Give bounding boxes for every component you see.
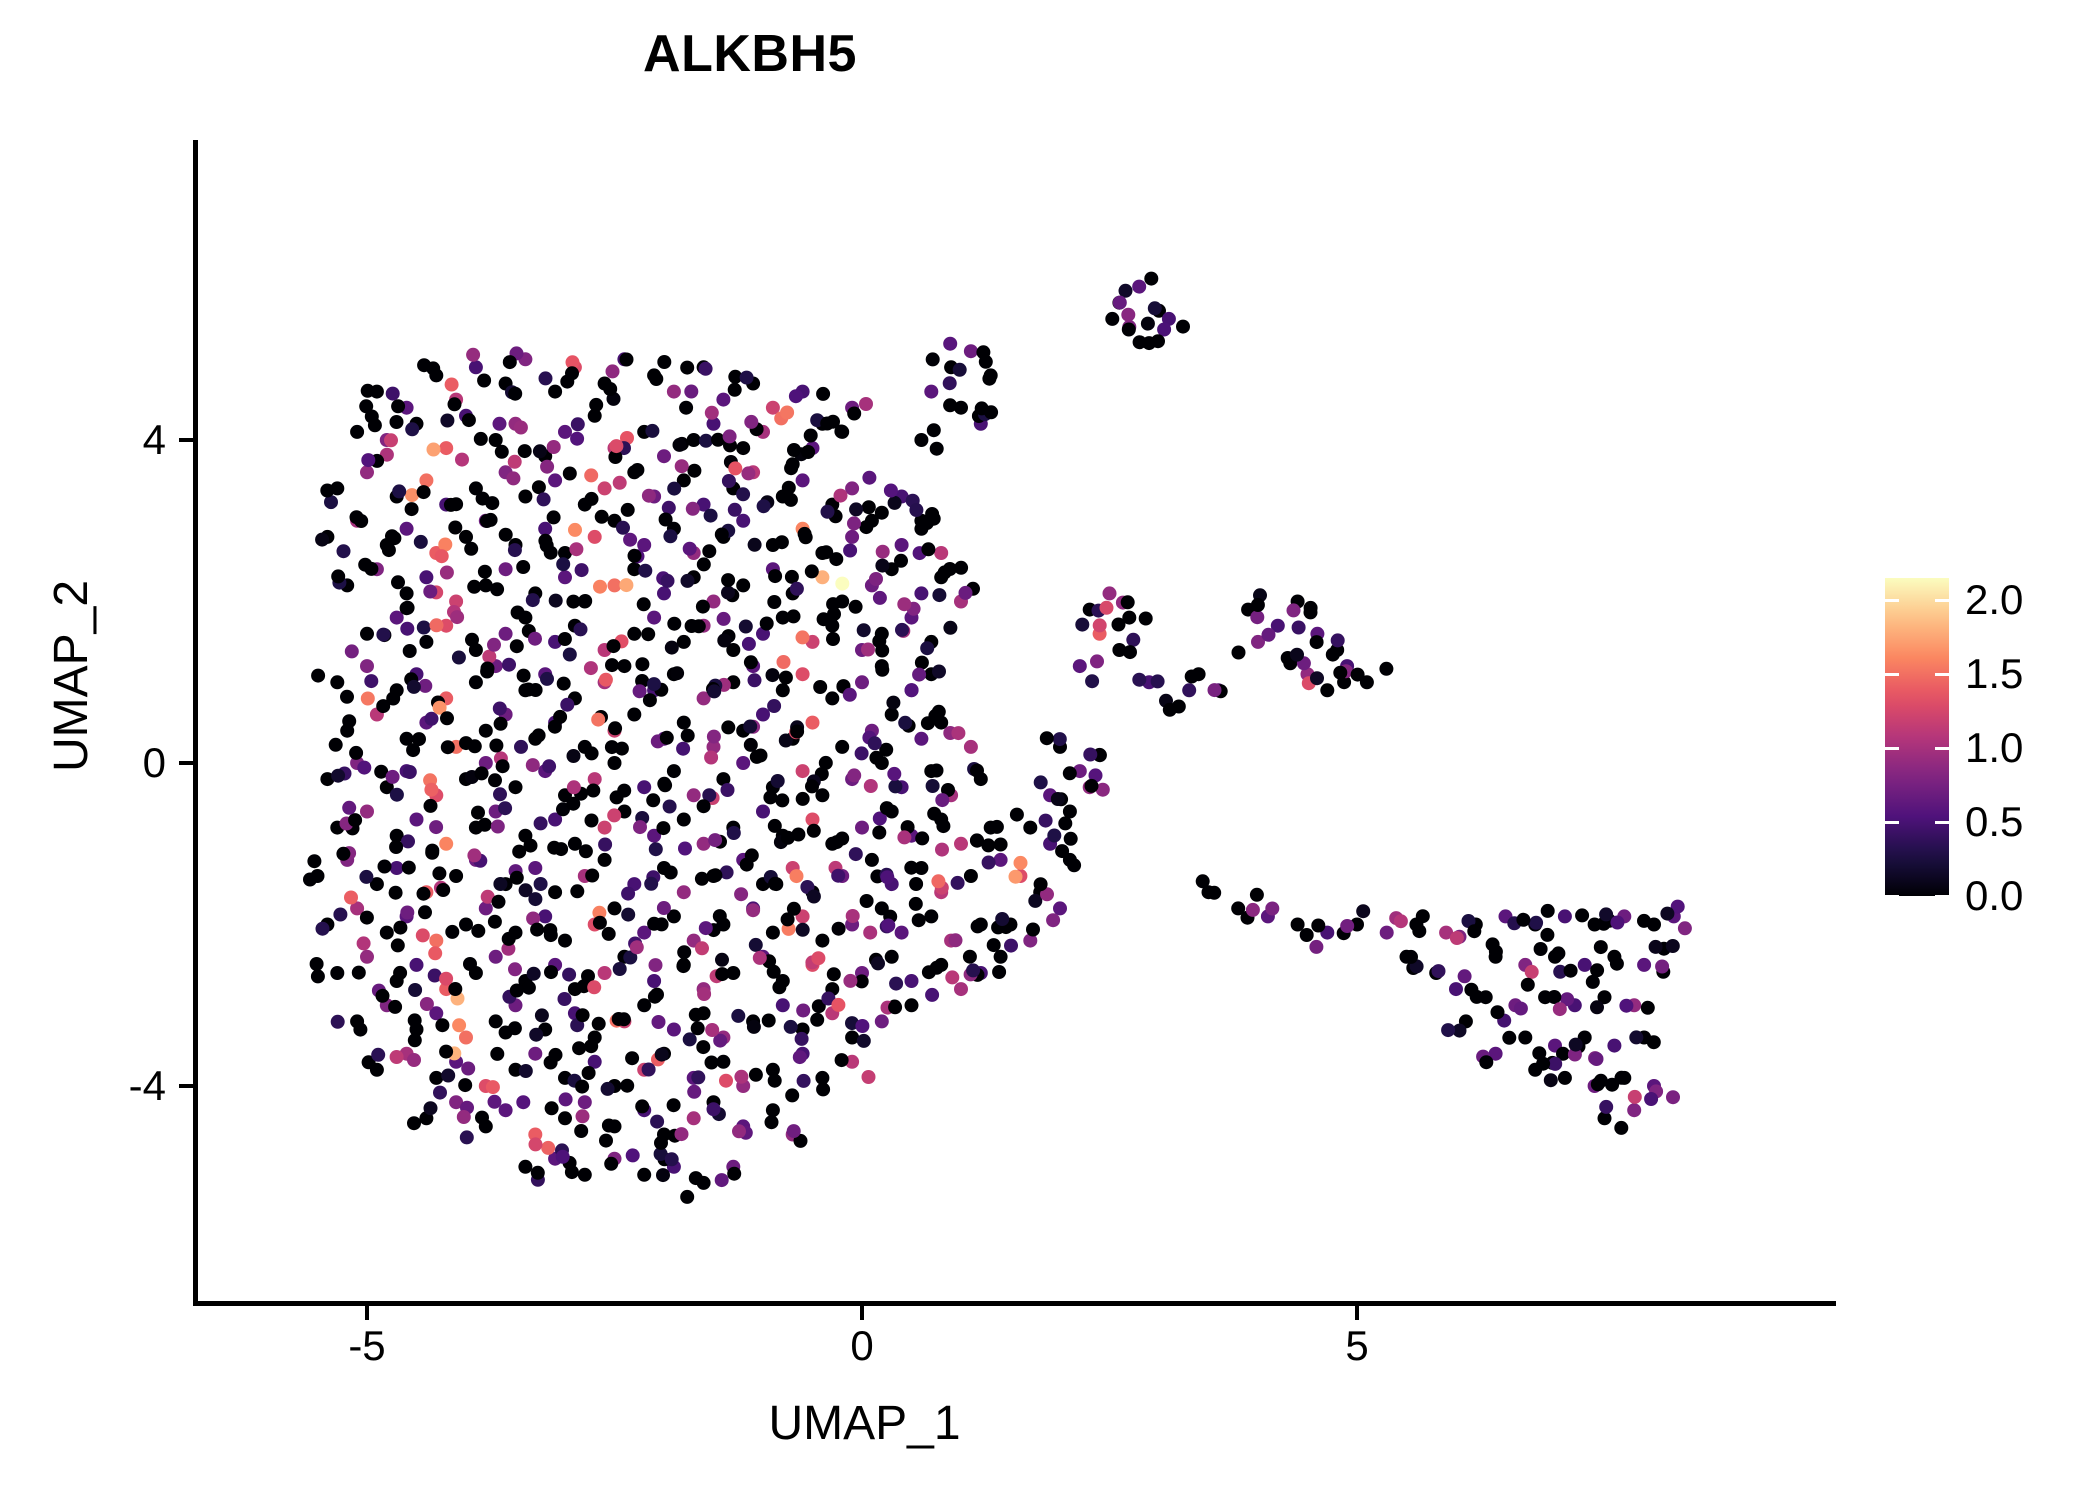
scatter-point <box>767 699 781 713</box>
scatter-point <box>676 742 690 756</box>
scatter-point <box>875 663 889 677</box>
scatter-point <box>717 634 731 648</box>
scatter-point <box>760 617 774 631</box>
scatter-point <box>380 926 394 940</box>
scatter-point <box>493 877 507 891</box>
scatter-point <box>586 784 600 798</box>
scatter-point <box>930 442 944 456</box>
scatter-point <box>835 577 849 591</box>
scatter-point <box>420 997 434 1011</box>
scatter-point <box>667 617 681 631</box>
scatter-point <box>1666 1090 1680 1104</box>
scatter-point <box>391 399 405 413</box>
scatter-point <box>1590 1000 1604 1014</box>
scatter-point <box>598 838 612 852</box>
scatter-point <box>662 501 676 515</box>
scatter-point <box>540 460 554 474</box>
scatter-point <box>734 887 748 901</box>
scatter-point <box>529 1137 543 1151</box>
scatter-point <box>516 560 530 574</box>
scatter-point <box>371 1048 385 1062</box>
scatter-point <box>589 398 603 412</box>
scatter-point <box>855 675 869 689</box>
scatter-point <box>768 569 782 583</box>
scatter-point <box>716 393 730 407</box>
scatter-point <box>1085 674 1099 688</box>
scatter-point <box>847 516 861 530</box>
scatter-point <box>921 542 935 556</box>
scatter-point <box>510 871 524 885</box>
x-tick-mark <box>860 1306 864 1320</box>
scatter-point <box>1514 1002 1528 1016</box>
scatter-point <box>1004 939 1018 953</box>
scatter-point <box>832 922 846 936</box>
scatter-point <box>360 911 374 925</box>
scatter-point <box>657 449 671 463</box>
scatter-point <box>1547 990 1561 1004</box>
scatter-point <box>357 936 371 950</box>
scatter-point <box>630 463 644 477</box>
scatter-point <box>810 1013 824 1027</box>
scatter-point <box>681 574 695 588</box>
scatter-point <box>459 918 473 932</box>
scatter-point <box>888 779 902 793</box>
scatter-point <box>576 1109 590 1123</box>
scatter-point <box>425 846 439 860</box>
scatter-point <box>835 1053 849 1067</box>
scatter-point <box>352 966 366 980</box>
scatter-point <box>813 680 827 694</box>
scatter-point <box>849 600 863 614</box>
scatter-point <box>557 677 571 691</box>
scatter-point <box>478 818 492 832</box>
scatter-point <box>643 693 657 707</box>
scatter-point <box>895 623 909 637</box>
scatter-point <box>493 417 507 431</box>
scatter-point <box>664 866 678 880</box>
colorbar-tick-label: 0.0 <box>1965 875 2023 917</box>
scatter-point <box>570 884 584 898</box>
scatter-point <box>1063 766 1077 780</box>
scatter-point <box>402 861 416 875</box>
scatter-point <box>467 848 481 862</box>
scatter-point <box>465 633 479 647</box>
scatter-point <box>1311 919 1325 933</box>
scatter-point <box>782 481 796 495</box>
scatter-point <box>410 813 424 827</box>
scatter-point <box>499 1103 513 1117</box>
scatter-point <box>605 658 619 672</box>
scatter-point <box>522 981 536 995</box>
scatter-point <box>416 928 430 942</box>
scatter-point <box>835 832 849 846</box>
scatter-point <box>567 780 581 794</box>
scatter-point <box>408 983 422 997</box>
scatter-point <box>602 927 616 941</box>
scatter-point <box>517 669 531 683</box>
scatter-point <box>516 1095 530 1109</box>
scatter-point <box>474 432 488 446</box>
scatter-point <box>914 586 928 600</box>
scatter-point <box>587 980 601 994</box>
scatter-point <box>876 545 890 559</box>
scatter-point <box>558 934 572 948</box>
scatter-point <box>528 1047 542 1061</box>
scatter-point <box>495 445 509 459</box>
scatter-point <box>585 492 599 506</box>
scatter-point <box>898 716 912 730</box>
scatter-point <box>595 510 609 524</box>
scatter-point <box>767 965 781 979</box>
scatter-point <box>361 384 375 398</box>
scatter-point <box>855 746 869 760</box>
scatter-point <box>943 376 957 390</box>
scatter-point <box>1112 618 1126 632</box>
scatter-point <box>389 886 403 900</box>
scatter-point <box>315 533 329 547</box>
scatter-point <box>401 834 415 848</box>
scatter-point <box>715 953 729 967</box>
scatter-point <box>1105 312 1119 326</box>
scatter-point <box>348 813 362 827</box>
scatter-point <box>728 383 742 397</box>
scatter-point <box>439 1045 453 1059</box>
scatter-point <box>502 658 516 672</box>
scatter-point <box>1326 648 1340 662</box>
scatter-point <box>746 903 760 917</box>
scatter-point <box>1590 1052 1604 1066</box>
scatter-point <box>766 1103 780 1117</box>
scatter-point <box>953 363 967 377</box>
scatter-point <box>528 861 542 875</box>
scatter-point <box>1310 635 1324 649</box>
scatter-point <box>704 509 718 523</box>
scatter-point <box>613 476 627 490</box>
scatter-point <box>784 493 798 507</box>
scatter-point <box>1331 633 1345 647</box>
scatter-point <box>559 1092 573 1106</box>
scatter-point <box>1660 907 1674 921</box>
scatter-point <box>582 1066 596 1080</box>
scatter-point <box>578 1095 592 1109</box>
scatter-point <box>435 549 449 563</box>
scatter-point <box>665 641 679 655</box>
scatter-point <box>650 1115 664 1129</box>
scatter-point <box>489 433 503 447</box>
scatter-point <box>747 1020 761 1034</box>
scatter-point <box>540 672 554 686</box>
scatter-point <box>702 544 716 558</box>
x-tick-label: 0 <box>792 1325 932 1367</box>
scatter-point <box>796 764 810 778</box>
scatter-point <box>981 838 995 852</box>
scatter-point <box>511 606 525 620</box>
scatter-point <box>909 503 923 517</box>
scatter-point <box>691 1070 705 1084</box>
scatter-point <box>1010 808 1024 822</box>
scatter-point <box>574 1124 588 1138</box>
scatter-point <box>403 644 417 658</box>
scatter-point <box>787 609 801 623</box>
scatter-point <box>796 792 810 806</box>
scatter-point <box>834 489 848 503</box>
scatter-point <box>1637 958 1651 972</box>
scatter-point <box>642 489 656 503</box>
scatter-point <box>650 988 664 1002</box>
scatter-point <box>862 500 876 514</box>
scatter-point <box>1246 903 1260 917</box>
scatter-point <box>609 439 623 453</box>
scatter-point <box>542 759 556 773</box>
scatter-point <box>847 407 861 421</box>
scatter-point <box>744 738 758 752</box>
scatter-point <box>364 674 378 688</box>
scatter-point <box>805 779 819 793</box>
scatter-point <box>414 535 428 549</box>
scatter-point <box>909 897 923 911</box>
scatter-point <box>647 611 661 625</box>
scatter-point <box>407 680 421 694</box>
scatter-point <box>704 751 718 765</box>
scatter-point <box>677 813 691 827</box>
scatter-point <box>728 503 742 517</box>
scatter-point <box>766 668 780 682</box>
scatter-point <box>518 490 532 504</box>
scatter-point <box>419 635 433 649</box>
scatter-point <box>1176 320 1190 334</box>
scatter-point <box>488 915 502 929</box>
scatter-point <box>469 675 483 689</box>
scatter-point <box>954 837 968 851</box>
colorbar-tick-label: 2.0 <box>1965 579 2023 621</box>
scatter-point <box>796 1004 810 1018</box>
scatter-layer <box>196 140 1836 1303</box>
scatter-point <box>1450 931 1464 945</box>
scatter-point <box>621 503 635 517</box>
scatter-point <box>400 906 414 920</box>
scatter-point <box>673 438 687 452</box>
scatter-point <box>1458 969 1472 983</box>
scatter-point <box>713 909 727 923</box>
scatter-point <box>984 405 998 419</box>
scatter-point <box>680 361 694 375</box>
scatter-point <box>1196 874 1210 888</box>
scatter-point <box>467 580 481 594</box>
scatter-point <box>608 721 622 735</box>
scatter-point <box>538 522 552 536</box>
scatter-point <box>951 726 965 740</box>
scatter-point <box>1649 940 1663 954</box>
scatter-point <box>748 538 762 552</box>
scatter-point <box>658 778 672 792</box>
scatter-point <box>619 578 633 592</box>
scatter-point <box>796 667 810 681</box>
scatter-point <box>509 780 523 794</box>
scatter-point <box>1575 908 1589 922</box>
scatter-point <box>393 966 407 980</box>
scatter-point <box>790 582 804 596</box>
scatter-point <box>528 632 542 646</box>
scatter-point <box>743 720 757 734</box>
scatter-point <box>448 521 462 535</box>
scatter-point <box>311 969 325 983</box>
scatter-point <box>721 783 735 797</box>
scatter-point <box>584 468 598 482</box>
scatter-point <box>865 853 879 867</box>
scatter-point <box>439 837 453 851</box>
scatter-point <box>620 1079 634 1093</box>
scatter-point <box>1479 1055 1493 1069</box>
scatter-point <box>1432 964 1446 978</box>
scatter-point <box>635 657 649 671</box>
scatter-point <box>630 940 644 954</box>
scatter-point <box>567 749 581 763</box>
scatter-point <box>429 934 443 948</box>
scatter-point <box>1394 914 1408 928</box>
scatter-point <box>869 751 883 765</box>
scatter-point <box>756 708 770 722</box>
scatter-point <box>656 1168 670 1182</box>
scatter-point <box>606 364 620 378</box>
scatter-point <box>390 861 404 875</box>
scatter-point <box>926 352 940 366</box>
scatter-point <box>745 848 759 862</box>
scatter-point <box>932 705 946 719</box>
scatter-point <box>695 941 709 955</box>
scatter-point <box>1141 317 1155 331</box>
scatter-point <box>945 970 959 984</box>
scatter-point <box>1629 1030 1643 1044</box>
scatter-point <box>699 362 713 376</box>
scatter-point <box>727 826 741 840</box>
scatter-point <box>1063 805 1077 819</box>
scatter-point <box>707 1102 721 1116</box>
scatter-point <box>914 433 928 447</box>
scatter-point <box>641 627 655 641</box>
scatter-point <box>1309 940 1323 954</box>
scatter-point <box>429 820 443 834</box>
scatter-point <box>492 895 506 909</box>
scatter-point <box>384 433 398 447</box>
scatter-point <box>1449 982 1463 996</box>
scatter-point <box>628 549 642 563</box>
scatter-point <box>548 385 562 399</box>
scatter-point <box>410 958 424 972</box>
scatter-point <box>784 1020 798 1034</box>
scatter-point <box>365 410 379 424</box>
scatter-point <box>544 928 558 942</box>
scatter-point <box>1051 792 1065 806</box>
scatter-point <box>331 1015 345 1029</box>
scatter-point <box>429 1071 443 1085</box>
scatter-point <box>357 761 371 775</box>
scatter-point <box>846 909 860 923</box>
scatter-point <box>736 578 750 592</box>
scatter-point <box>462 413 476 427</box>
scatter-point <box>1310 671 1324 685</box>
scatter-point <box>620 353 634 367</box>
scatter-point <box>1139 612 1153 626</box>
scatter-point <box>687 1085 701 1099</box>
scatter-point <box>656 821 670 835</box>
scatter-point <box>661 574 675 588</box>
scatter-point <box>861 643 875 657</box>
scatter-point <box>775 535 789 549</box>
scatter-point <box>843 974 857 988</box>
scatter-point <box>493 702 507 716</box>
scatter-point <box>771 774 785 788</box>
scatter-point <box>784 461 798 475</box>
scatter-point <box>1185 670 1199 684</box>
scatter-point <box>311 669 325 683</box>
scatter-point <box>796 923 810 937</box>
scatter-point <box>1265 902 1279 916</box>
scatter-point <box>1610 916 1624 930</box>
scatter-point <box>1090 654 1104 668</box>
scatter-point <box>936 819 950 833</box>
scatter-point <box>966 963 980 977</box>
scatter-point <box>1610 957 1624 971</box>
scatter-point <box>869 572 883 586</box>
scatter-point <box>627 708 641 722</box>
scatter-point <box>637 597 651 611</box>
scatter-point <box>655 917 669 931</box>
scatter-point <box>390 415 404 429</box>
scatter-point <box>393 921 407 935</box>
scatter-point <box>532 728 546 742</box>
scatter-point <box>427 443 441 457</box>
scatter-point <box>1489 945 1503 959</box>
scatter-point <box>349 746 363 760</box>
scatter-point <box>1641 1001 1655 1015</box>
scatter-point <box>649 958 663 972</box>
scatter-point <box>1034 775 1048 789</box>
scatter-point <box>1300 928 1314 942</box>
scatter-point <box>796 473 810 487</box>
scatter-point <box>807 890 821 904</box>
scatter-point <box>732 1124 746 1138</box>
scatter-point <box>827 967 841 981</box>
scatter-point <box>452 651 466 665</box>
scatter-point <box>895 926 909 940</box>
scatter-point <box>512 845 526 859</box>
scatter-point <box>1599 1100 1613 1114</box>
scatter-point <box>1558 1071 1572 1085</box>
scatter-point <box>642 1063 656 1077</box>
scatter-point <box>350 510 364 524</box>
scatter-point <box>508 543 522 557</box>
scatter-point <box>994 838 1008 852</box>
scatter-point <box>539 371 553 385</box>
scatter-point <box>316 922 330 936</box>
scatter-point <box>531 1166 545 1180</box>
scatter-point <box>617 659 631 673</box>
scatter-point <box>449 869 463 883</box>
scatter-point <box>499 1026 513 1040</box>
scatter-point <box>1614 1121 1628 1135</box>
scatter-point <box>518 1160 532 1174</box>
scatter-point <box>616 521 630 535</box>
scatter-point <box>677 885 691 899</box>
scatter-point <box>408 1013 422 1027</box>
scatter-point <box>924 909 938 923</box>
scatter-point <box>508 387 522 401</box>
scatter-point <box>508 455 522 469</box>
scatter-point <box>1540 928 1554 942</box>
scatter-point <box>697 987 711 1001</box>
scatter-point <box>1525 965 1539 979</box>
scatter-point <box>873 591 887 605</box>
